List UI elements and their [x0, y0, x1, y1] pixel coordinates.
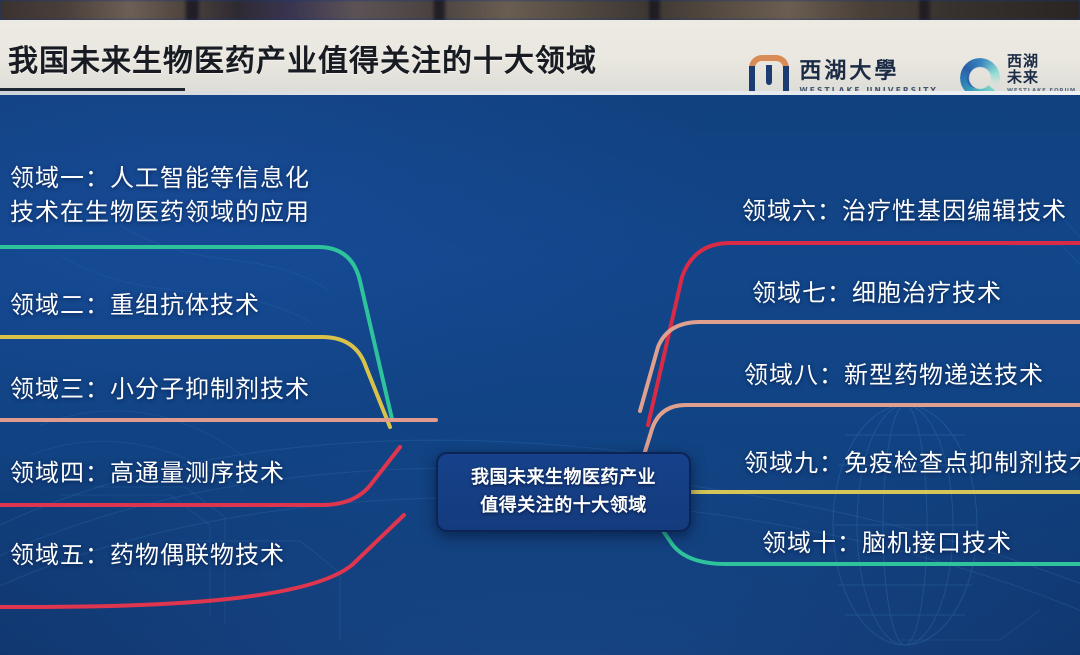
header-accent-bar [0, 88, 185, 92]
branch-label-4[interactable]: 领域四：高通量测序技术 [10, 453, 285, 488]
westlake-university-name-en: WESTLAKE UNIVERSITY [799, 86, 938, 95]
center-node-line2: 值得关注的十大领域 [480, 492, 647, 520]
westlake-university-name-cn: 西湖大學 [799, 60, 938, 83]
branch-label-1-text: 人工智能等信息化 [110, 164, 310, 192]
page-title: 我国未来生物医药产业值得关注的十大领域 [8, 36, 597, 80]
branch-label-8[interactable]: 领域八：新型药物递送技术 [744, 355, 1044, 390]
branch-label-6[interactable]: 领域六：治疗性基因编辑技术 [742, 191, 1067, 226]
center-node-line1: 我国未来生物医药产业 [471, 464, 656, 492]
branch-label-8-text: 新型药物递送技术 [844, 361, 1044, 389]
branch-label-5-prefix: 领域五： [10, 541, 110, 569]
slide-body: 领域一：人工智能等信息化 技术在生物医药领域的应用 领域二：重组抗体技术 领域三… [0, 95, 1080, 655]
branch-label-1-prefix: 领域一： [10, 164, 110, 192]
branch-label-10-prefix: 领域十： [762, 529, 862, 557]
background-room-strip [0, 0, 1080, 20]
branch-label-9[interactable]: 领域九：免疫检查点抑制剂技术 [744, 443, 1080, 478]
branch-label-8-prefix: 领域八： [744, 361, 844, 389]
branch-label-9-text: 免疫检查点抑制剂技术 [844, 449, 1080, 477]
branch-label-1[interactable]: 领域一：人工智能等信息化 技术在生物医药领域的应用 [10, 161, 390, 229]
slide-screenshot: 我国未来生物医药产业值得关注的十大领域 西湖大學 WESTLAKE UNIVER… [0, 0, 1080, 655]
westlake-university-mark-icon [747, 55, 791, 101]
center-node[interactable]: 我国未来生物医药产业 值得关注的十大领域 [436, 452, 691, 532]
branch-label-5[interactable]: 领域五：药物偶联物技术 [10, 535, 285, 570]
branch-label-3-text: 小分子抑制剂技术 [110, 375, 310, 403]
branch-label-6-prefix: 领域六： [742, 197, 842, 225]
branch-label-3-prefix: 领域三： [10, 375, 110, 403]
branch-label-6-text: 治疗性基因编辑技术 [842, 197, 1067, 225]
westlake-forum-ring-icon [960, 58, 1000, 98]
westlake-forum-name-cn-line1: 西湖 [1007, 53, 1076, 70]
westlake-forum-name-en-line1: WESTLAKE FORUM [1007, 88, 1076, 94]
branch-label-2[interactable]: 领域二：重组抗体技术 [10, 285, 260, 320]
connector-right-6 [648, 243, 1080, 425]
branch-label-2-text: 重组抗体技术 [110, 291, 260, 319]
branch-label-7-prefix: 领域七： [752, 279, 852, 307]
branch-label-4-prefix: 领域四： [10, 459, 110, 487]
westlake-university-logo: 西湖大學 WESTLAKE UNIVERSITY [747, 55, 960, 101]
branch-label-10[interactable]: 领域十：脑机接口技术 [762, 523, 1012, 558]
branch-label-2-prefix: 领域二： [10, 291, 110, 319]
branch-label-9-prefix: 领域九： [744, 449, 844, 477]
branch-label-5-text: 药物偶联物技术 [110, 541, 285, 569]
branch-label-3[interactable]: 领域三：小分子抑制剂技术 [10, 369, 310, 404]
branch-label-7[interactable]: 领域七：细胞治疗技术 [752, 273, 1002, 308]
slide-header: 我国未来生物医药产业值得关注的十大领域 西湖大學 WESTLAKE UNIVER… [0, 20, 1080, 95]
branch-label-7-text: 细胞治疗技术 [852, 279, 1002, 307]
branch-label-1-text2: 技术在生物医药领域的应用 [10, 198, 310, 226]
branch-label-10-text: 脑机接口技术 [862, 529, 1012, 557]
westlake-forum-name-cn-line2: 未来 [1007, 69, 1076, 86]
branch-label-4-text: 高通量测序技术 [110, 459, 285, 487]
